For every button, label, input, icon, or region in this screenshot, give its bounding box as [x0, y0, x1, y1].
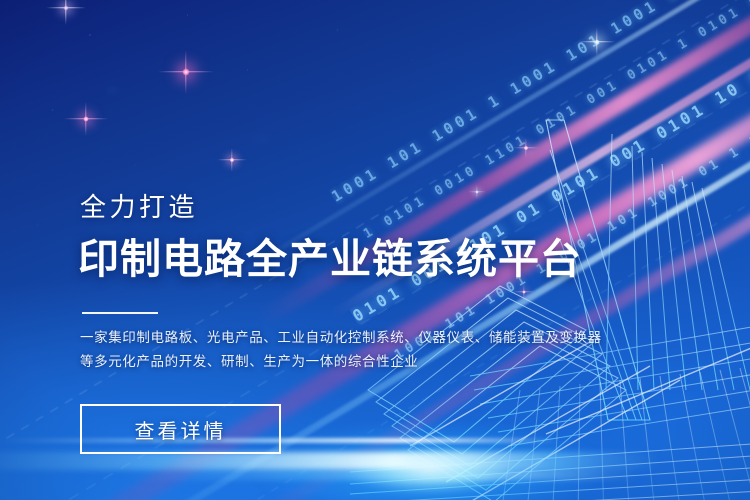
banner-kicker: 全力打造: [80, 194, 198, 220]
banner-description-line-1: 一家集印制电路板、光电产品、工业自动化控制系统、仪器仪表、储能装置及变换器: [80, 326, 550, 350]
divider-rule: [82, 312, 158, 314]
banner-description-line-2: 等多元化产品的开发、研制、生产为一体的综合性企业: [80, 350, 550, 374]
banner-content: 全力打造 印制电路全产业链系统平台 一家集印制电路板、光电产品、工业自动化控制系…: [0, 0, 750, 500]
banner-title: 印制电路全产业链系统平台: [78, 238, 582, 281]
view-details-button[interactable]: 查看详情: [80, 404, 281, 454]
hero-banner: 1001 101 1001 1 1001 101 1001 01 1 1001 …: [0, 0, 750, 500]
banner-description: 一家集印制电路板、光电产品、工业自动化控制系统、仪器仪表、储能装置及变换器 等多…: [80, 326, 550, 374]
